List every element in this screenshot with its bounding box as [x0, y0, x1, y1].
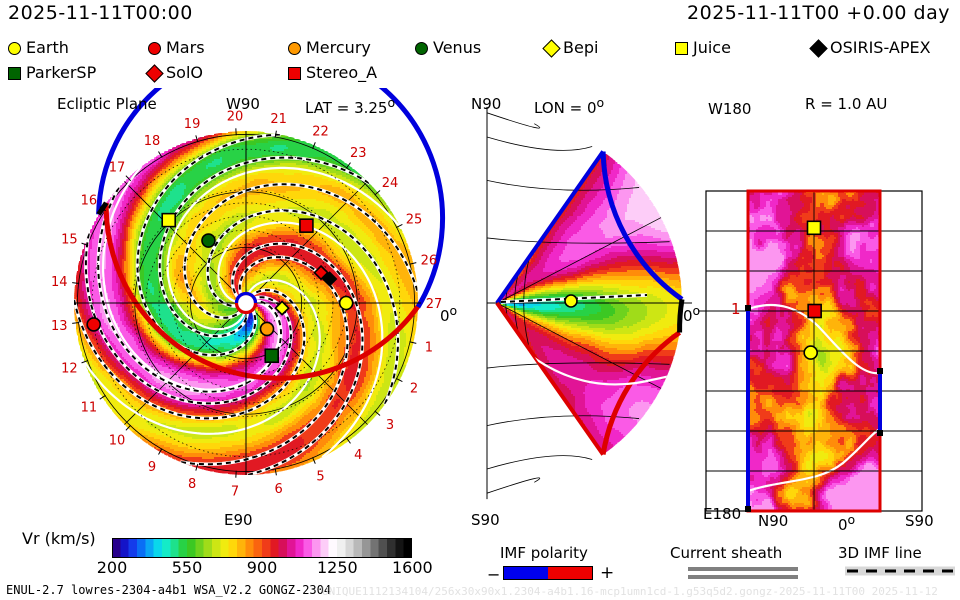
carrington-tick-label: 22	[312, 124, 329, 139]
colorbar-tick: 900	[242, 558, 282, 577]
ecliptic-right-axis-label: 0o	[440, 303, 457, 325]
meridional-bottom-label: S90	[471, 511, 500, 529]
ecliptic-body-mercury	[261, 322, 274, 335]
au-marker-juice	[808, 221, 821, 234]
imf-3d-line-sample	[845, 563, 955, 579]
carrington-tick-label: 25	[406, 213, 423, 228]
carrington-tick-label: 14	[51, 275, 68, 290]
legend-marker-parkersp	[8, 67, 21, 80]
legend-label: Mars	[166, 40, 205, 56]
timestamp-left: 2025-11-11T00:00	[8, 2, 193, 24]
legend-item-parkersp: ParkerSP	[8, 65, 96, 81]
imf-polarity-minus: −	[487, 565, 500, 584]
au-marker-earth	[804, 346, 817, 359]
carrington-tick-label: 13	[51, 319, 68, 334]
carrington-tick-label: 6	[275, 482, 283, 497]
legend-item-osiris-apex: OSIRIS-APEX	[812, 40, 931, 56]
colorbar-tick: 1600	[392, 558, 432, 577]
carrington-tick-label: 18	[144, 134, 161, 149]
au-slice-panel-title: R = 1.0 AU	[805, 95, 887, 113]
carrington-tick-label: 10	[109, 434, 126, 449]
carrington-tick-label: 4	[354, 448, 362, 463]
imf-polarity-title: IMF polarity	[500, 544, 588, 562]
current-sheath-title: Current sheath	[670, 544, 782, 562]
legend-item-mars: Mars	[148, 40, 205, 56]
legend-label: Bepi	[563, 40, 598, 56]
imf-polarity-positive-swatch	[548, 567, 592, 579]
legend-item-earth: Earth	[8, 40, 69, 56]
carrington-tick-label: 7	[231, 485, 239, 500]
watermark-text: UNIQUE1112134104/256x30x90x1.2304-a4b1.1…	[322, 585, 938, 598]
carrington-tick-label: 16	[81, 194, 98, 209]
colorbar-tick: 550	[167, 558, 207, 577]
ecliptic-body-venus	[202, 234, 215, 247]
legend-marker-earth	[8, 42, 21, 55]
au-slice-bottom-left-label: E180	[703, 505, 741, 523]
legend-label: Stereo_A	[306, 65, 377, 81]
legend-item-juice: Juice	[675, 40, 731, 56]
ecliptic-body-earth	[340, 297, 353, 310]
legend-label: OSIRIS-APEX	[830, 40, 931, 56]
carrington-tick-label: 21	[270, 112, 287, 127]
legend-marker-mars	[148, 42, 161, 55]
ecliptic-body-psp	[265, 349, 278, 362]
legend-marker-solo	[145, 64, 163, 82]
au-slice-top-left-label: W180	[708, 100, 751, 118]
legend-marker-mercury	[288, 42, 301, 55]
carrington-tick-label: 24	[382, 176, 399, 191]
imf-polarity-plus: +	[600, 563, 614, 583]
legend-marker-bepi	[542, 39, 560, 57]
sun-core	[239, 296, 253, 310]
ecliptic-body-mars	[87, 318, 100, 331]
ecliptic-body-juice	[162, 214, 175, 227]
carrington-tick-label: 15	[61, 233, 78, 248]
carrington-tick-label: 17	[109, 160, 126, 175]
carrington-tick-label: 11	[81, 400, 98, 415]
solar-wind-figure: 2726252423222120191817161514131211109876…	[0, 88, 960, 538]
carrington-tick-label: 3	[386, 418, 394, 433]
au-slice-row-tick-label: 1	[731, 300, 741, 318]
legend-label: Mercury	[306, 40, 371, 56]
ecliptic-lat-label: LAT = 3.25o	[305, 95, 395, 117]
carrington-tick-label: 12	[61, 361, 78, 376]
legend-label: Venus	[433, 40, 481, 56]
imf-polarity-negative-swatch	[504, 567, 548, 579]
carrington-tick-label: 23	[350, 146, 367, 161]
carrington-tick-label: 9	[148, 460, 156, 475]
carrington-tick-label: 5	[316, 470, 324, 485]
colorbar-label: Vr (km/s)	[22, 529, 96, 548]
meridional-top-label: N90	[471, 95, 501, 113]
credit-text: ENUL-2.7 lowres-2304-a4b1 WSA_V2.2 GONGZ…	[6, 583, 331, 597]
carrington-tick-label: 1	[425, 340, 433, 355]
ecliptic-body-stereoa	[300, 219, 313, 232]
legend-marker-juice	[675, 42, 688, 55]
legend-label: ParkerSP	[26, 65, 96, 81]
legend-item-bepi: Bepi	[545, 40, 598, 56]
au-marker-stereoa	[808, 305, 821, 318]
au-slice-xlabel-n90: N90	[758, 512, 788, 530]
ecliptic-panel-title: Ecliptic Plane	[57, 95, 157, 113]
colorbar-tick: 1250	[317, 558, 357, 577]
imf-polarity-bar	[503, 566, 593, 580]
carrington-tick-label: 19	[184, 117, 201, 132]
imf-3d-line-title: 3D IMF line	[838, 544, 922, 562]
legend-label: Earth	[26, 40, 69, 56]
legend-item-solo: SolO	[148, 65, 203, 81]
legend-label: Juice	[693, 40, 731, 56]
legend-item-mercury: Mercury	[288, 40, 371, 56]
carrington-tick-label: 8	[188, 477, 196, 492]
current-sheath-line-lower	[688, 575, 798, 579]
ecliptic-top-axis-label: W90	[226, 95, 260, 113]
legend-item-venus: Venus	[415, 40, 481, 56]
colorbar	[112, 538, 412, 558]
meridional-panel-title: LON = 0o	[534, 95, 604, 117]
legend-marker-osiris-apex	[809, 39, 827, 57]
legend-marker-venus	[415, 42, 428, 55]
carrington-tick-label: 2	[410, 381, 418, 396]
legend-item-stereo-a: Stereo_A	[288, 65, 377, 81]
carrington-tick-label: 26	[421, 254, 438, 269]
colorbar-tick: 200	[92, 558, 132, 577]
ecliptic-bottom-axis-label: E90	[224, 511, 253, 529]
meridional-earth-marker	[565, 295, 577, 307]
meridional-right-label: 0o	[683, 303, 700, 325]
timestamp-right: 2025-11-11T00 +0.00 day	[687, 2, 950, 24]
current-sheath-line-upper	[688, 567, 798, 571]
au-slice-xlabel-s90: S90	[905, 512, 934, 530]
legend-marker-stereo-a	[288, 67, 301, 80]
legend-label: SolO	[166, 65, 203, 81]
au-slice-xlabel-zero: 0o	[838, 512, 855, 534]
